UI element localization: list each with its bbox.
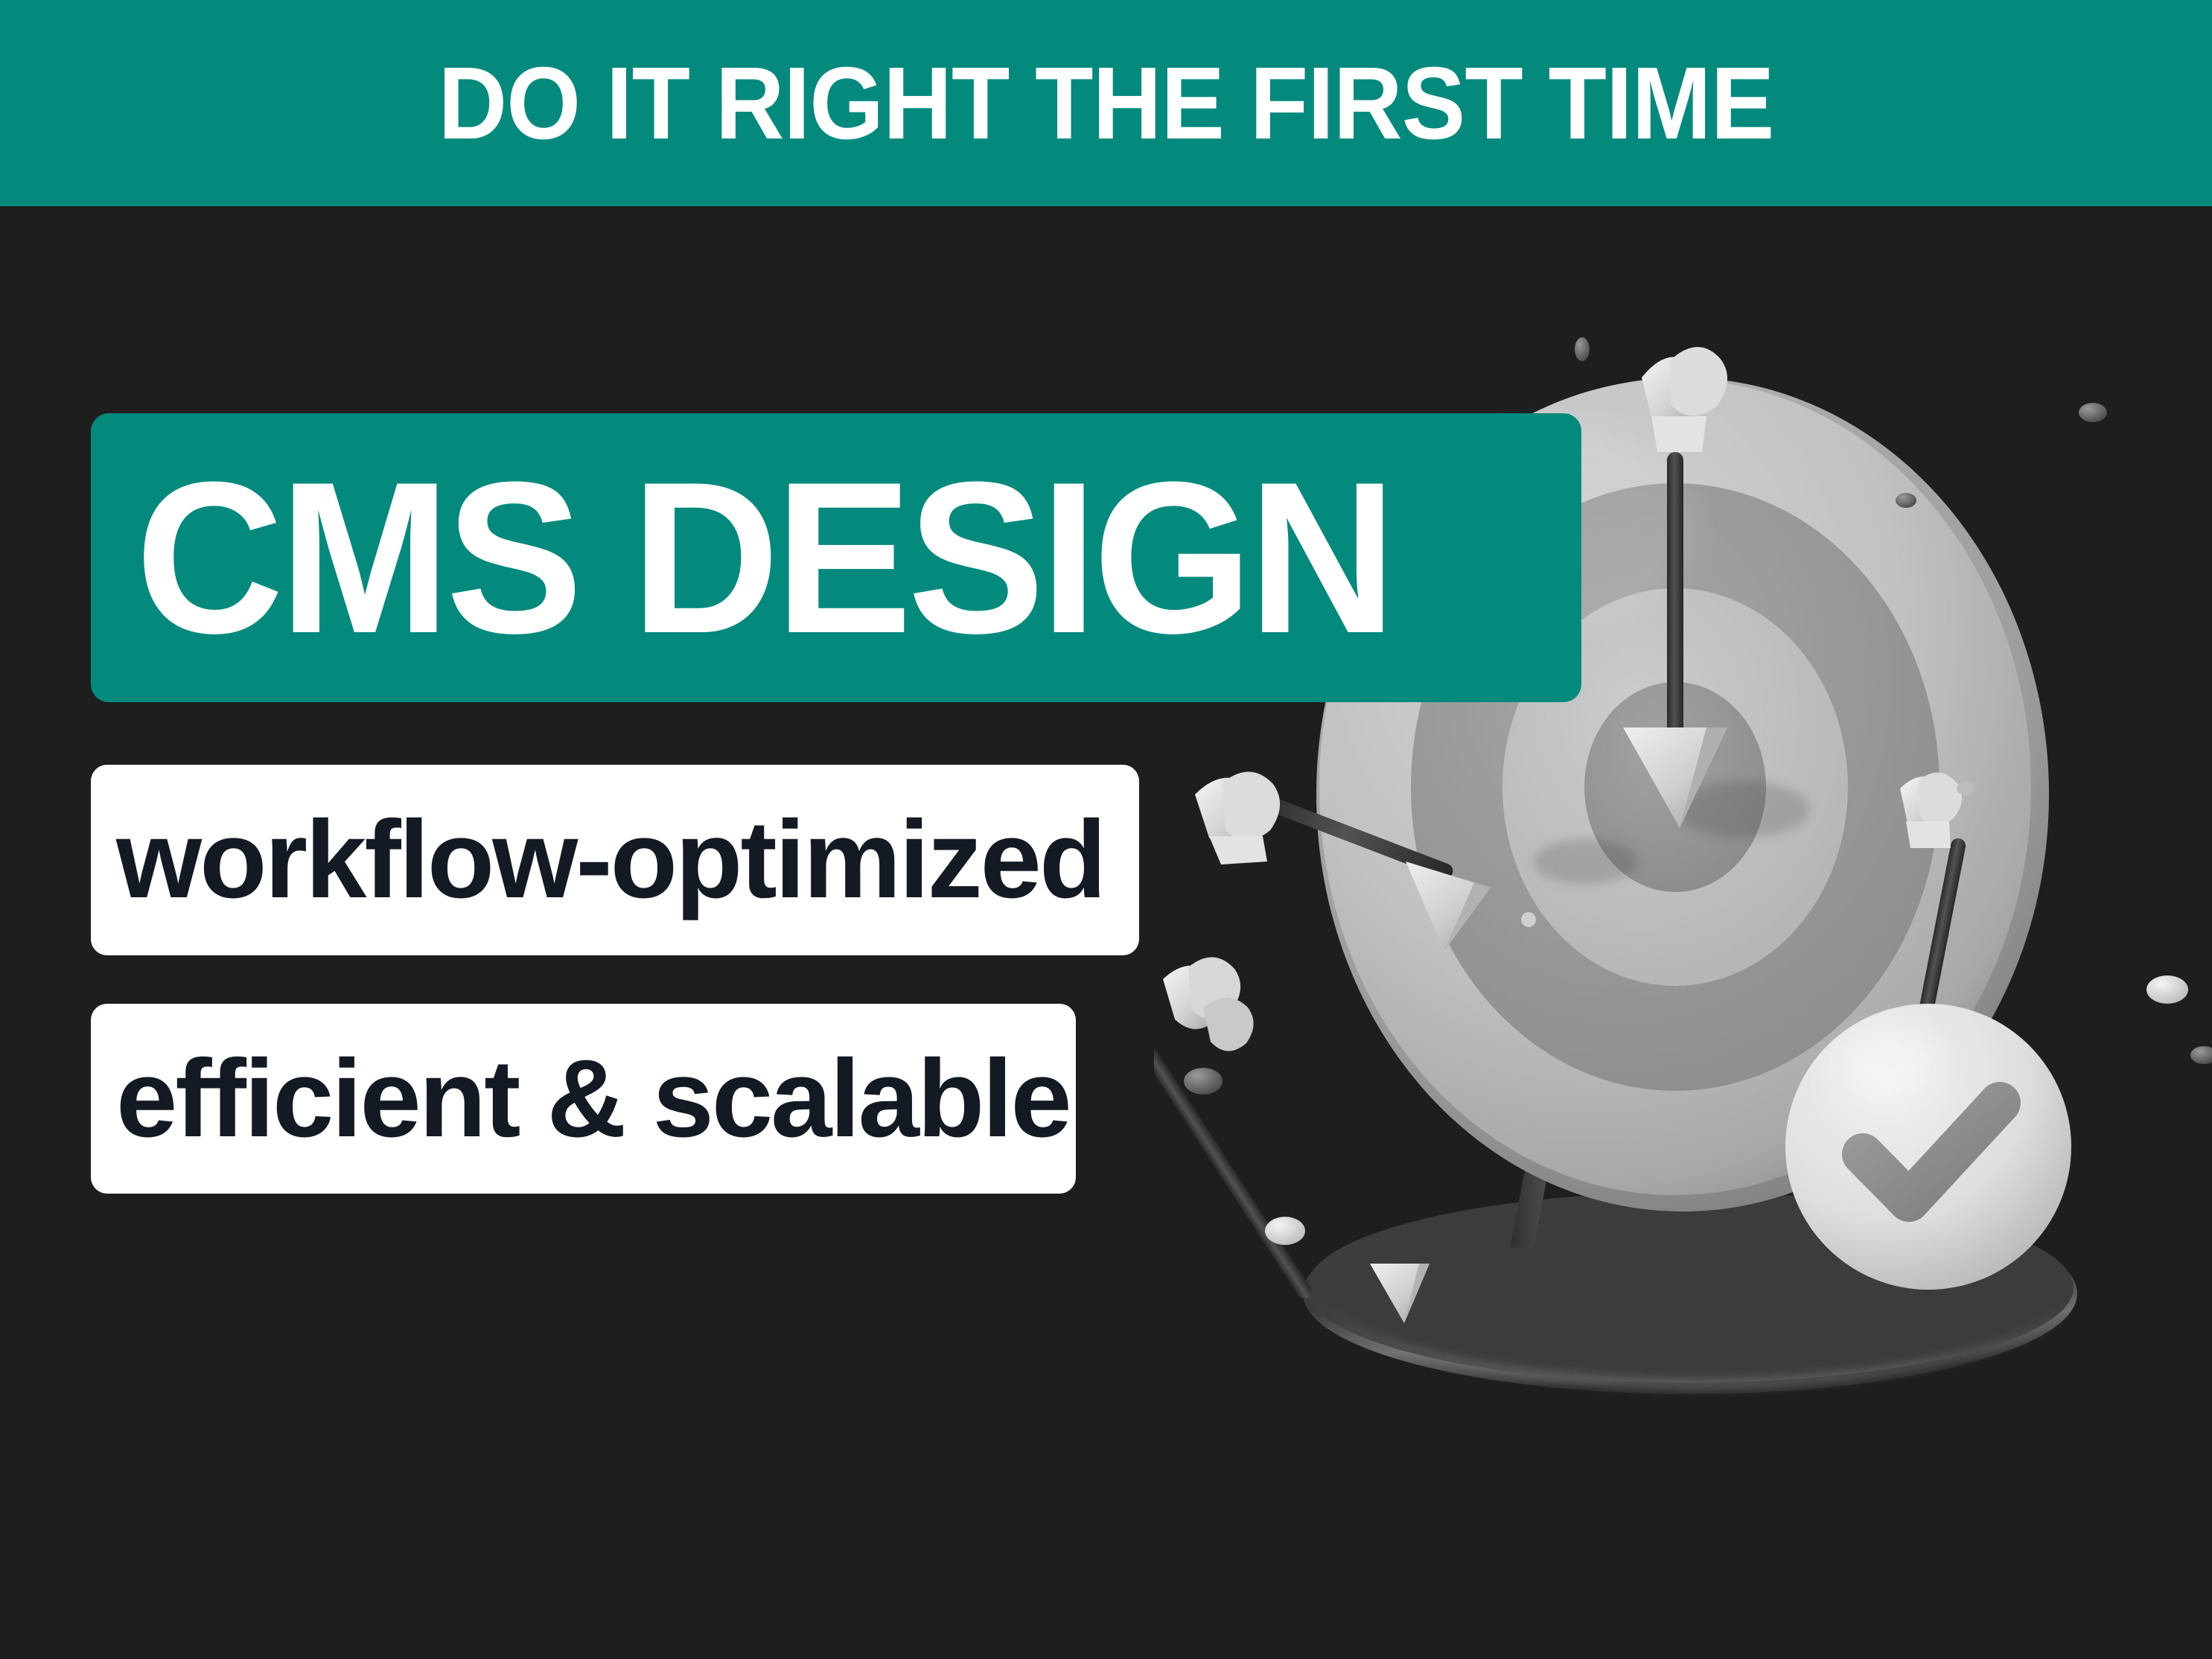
ground-arrow-fletching <box>1163 957 1254 1051</box>
feature-pill-label: efficient & scalable <box>116 1044 1070 1154</box>
hero-stage: CMS DESIGN workflow-optimized efficient … <box>0 206 2212 1659</box>
hero-title-box: CMS DESIGN <box>91 413 1581 702</box>
checkmark-badge <box>1785 1004 2071 1290</box>
arrow-left-fletching <box>1195 771 1280 864</box>
top-banner: DO IT RIGHT THE FIRST TIME <box>0 0 2212 206</box>
feature-pill-workflow-optimized: workflow-optimized <box>91 765 1139 955</box>
feature-pill-label: workflow-optimized <box>116 805 1104 915</box>
banner-tagline: DO IT RIGHT THE FIRST TIME <box>439 52 1774 155</box>
feature-pill-efficient-scalable: efficient & scalable <box>91 1004 1076 1194</box>
page-title: CMS DESIGN <box>136 450 1392 666</box>
